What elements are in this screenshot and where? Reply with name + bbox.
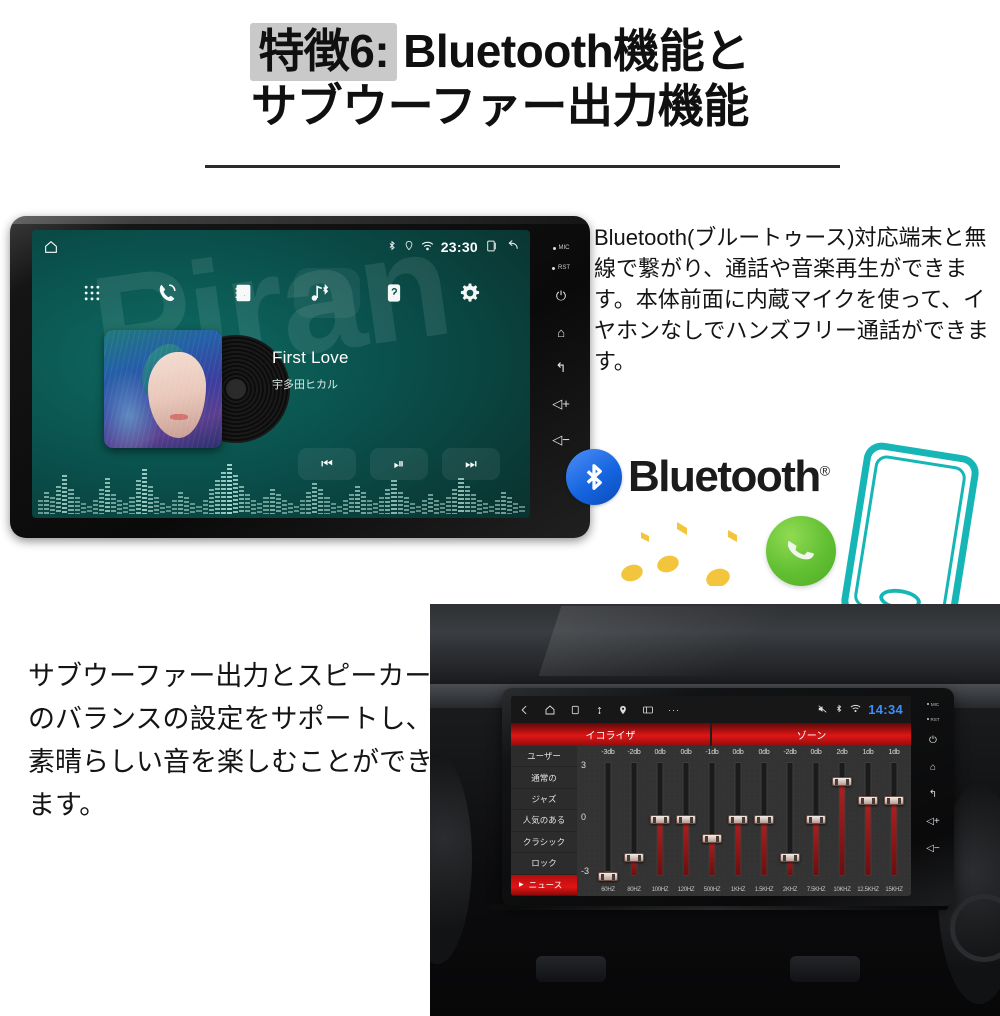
band-fill [762, 818, 767, 875]
band-fill [684, 818, 689, 875]
visualizer-bar [477, 500, 482, 514]
band-fill [866, 799, 871, 875]
band-track[interactable] [709, 762, 716, 876]
title-line-1-text: Bluetooth機能と [403, 25, 750, 77]
power-key[interactable]: ⏻ [929, 728, 937, 752]
visualizer-bar [343, 500, 348, 514]
y-axis-tick: 0 [581, 812, 586, 822]
band-value-label: -1db [705, 749, 718, 756]
equalizer-band[interactable]: -3db60HZ [595, 746, 621, 896]
band-thumb[interactable] [858, 796, 878, 805]
visualizer-bar [270, 489, 275, 514]
equalizer-body: ユーザー通常のジャズ人気のあるクラシックロックニュース 30-3 -3db60H… [511, 746, 911, 896]
head-unit-screen[interactable]: Piran [32, 230, 530, 518]
band-frequency-label: 80HZ [627, 887, 640, 893]
band-fill [658, 818, 663, 875]
visualizer-bar [257, 503, 262, 514]
band-frequency-label: 15KHZ [885, 887, 902, 893]
dash-upper-panel [430, 604, 1000, 690]
equalizer-device: ··· 14:34 イコライザゾーン [502, 688, 954, 906]
preset-item[interactable]: 人気のある [511, 810, 577, 831]
bluetooth-icon [387, 239, 397, 255]
visualizer-bar [312, 483, 317, 514]
visualizer-bar [209, 489, 214, 514]
preset-label: 人気のある [523, 814, 566, 826]
visualizer-bar [75, 497, 80, 514]
usb-icon[interactable] [595, 704, 604, 716]
wifi-icon [850, 704, 861, 715]
band-value-label: -3db [601, 749, 614, 756]
equalizer-graph[interactable]: 30-3 -3db60HZ-2db80HZ0db100HZ0db120HZ-1d… [577, 746, 911, 896]
band-thumb[interactable] [832, 777, 852, 786]
now-playing-info: First Love 宇多田ヒカル [272, 348, 349, 392]
visualizer-bar [56, 486, 61, 514]
band-value-label: 0db [810, 749, 821, 756]
track-title: First Love [272, 348, 349, 368]
visualizer-bar [87, 506, 92, 514]
visualizer-bar [111, 494, 116, 514]
bluetooth-icon [835, 703, 843, 716]
band-value-label: -2db [783, 749, 796, 756]
preset-item[interactable]: ジャズ [511, 789, 577, 810]
visualizer-bar [81, 503, 86, 514]
band-thumb[interactable] [598, 872, 618, 881]
visualizer-bar [178, 492, 183, 514]
bluetooth-description: Bluetooth(ブルートゥース)対応端末と無線で繋がり、通話や音楽再生ができ… [594, 222, 994, 377]
y-axis-tick: 3 [581, 760, 586, 770]
head-unit-device: Piran [10, 216, 590, 538]
bezel-highlight [10, 216, 590, 224]
home-key[interactable]: ⌂ [557, 316, 565, 348]
band-thumb[interactable] [780, 853, 800, 862]
equalizer-band[interactable]: 2db10KHZ [829, 746, 855, 896]
visualizer-bar [452, 489, 457, 514]
visualizer-bar [245, 494, 250, 514]
preset-item[interactable]: ニュース [511, 875, 577, 896]
visualizer-bar [50, 497, 55, 514]
visualizer-bar [513, 503, 518, 514]
visualizer-bar [391, 480, 396, 514]
visualizer-bar [471, 494, 476, 514]
visualizer-bar [136, 480, 141, 514]
equalizer-band[interactable]: 0db120HZ [673, 746, 699, 896]
home-icon[interactable] [544, 704, 556, 716]
equalizer-tab[interactable]: ゾーン [712, 723, 911, 746]
y-axis: 30-3 [579, 746, 593, 896]
more-icon[interactable]: ··· [668, 705, 680, 715]
visualizer-bar [446, 497, 451, 514]
band-frequency-label: 120HZ [678, 887, 695, 893]
visualizer-bar [458, 478, 463, 514]
equalizer-tabs: イコライザゾーン [511, 723, 911, 746]
visualizer-bar [251, 500, 256, 514]
home-key[interactable]: ⌂ [930, 755, 936, 779]
visualizer-bar [337, 506, 342, 514]
equalizer-side-keys: MICRST⏻⌂↰◁+◁− [916, 698, 950, 894]
band-fill [814, 818, 819, 875]
equalizer-band[interactable]: 1db12.5KHZ [855, 746, 881, 896]
visualizer-bar [404, 497, 409, 514]
visualizer-bar [331, 503, 336, 514]
visualizer-bar [300, 500, 305, 514]
power-key[interactable]: ⏻ [556, 280, 566, 312]
equalizer-tab[interactable]: イコライザ [511, 723, 710, 746]
band-sliders: -3db60HZ-2db80HZ0db100HZ0db120HZ-1db500H… [595, 746, 907, 896]
phone-call-icon [766, 516, 836, 586]
visualizer-bar [239, 486, 244, 514]
visualizer-bar [361, 492, 366, 514]
visualizer-bar [422, 500, 427, 514]
album-art [104, 330, 222, 448]
band-track[interactable] [865, 762, 872, 876]
preset-label: ジャズ [531, 793, 556, 805]
android-nav-bar: ··· 14:34 [511, 696, 911, 723]
visualizer-bar [263, 497, 268, 514]
band-fill [840, 780, 845, 875]
equalizer-band[interactable]: 0db1KHZ [725, 746, 751, 896]
visualizer-bar [416, 506, 421, 514]
preset-label: クラシック [523, 836, 565, 848]
band-thumb[interactable] [806, 815, 826, 824]
visualizer-bar [129, 497, 134, 514]
band-frequency-label: 2KHZ [783, 887, 797, 893]
visualizer-bar [495, 500, 500, 514]
equalizer-band[interactable]: 0db1.5KHZ [751, 746, 777, 896]
visualizer-bar [44, 492, 49, 514]
bluetooth-wordmark: Bluetooth® [628, 452, 829, 502]
visualizer-bar [203, 500, 208, 514]
reset-key[interactable]: RST [552, 260, 570, 276]
status-bar: 23:30 [32, 230, 530, 264]
visualizer-bar [68, 489, 73, 514]
bluetooth-icon [566, 449, 622, 505]
visualizer-bar [306, 492, 311, 514]
visualizer-bar [367, 500, 372, 514]
visualizer-bar [355, 486, 360, 514]
visualizer-bar [318, 489, 323, 514]
band-value-label: 0db [680, 749, 691, 756]
phone-dial-icon[interactable] [154, 280, 180, 306]
status-clock: 23:30 [441, 239, 478, 255]
equalizer-band[interactable]: -2db2KHZ [777, 746, 803, 896]
visualizer-bar [142, 469, 147, 514]
visualizer-bar [154, 497, 159, 514]
band-fill [892, 799, 897, 875]
preset-label: ロック [531, 857, 557, 869]
band-frequency-label: 1.5KHZ [755, 887, 774, 893]
back-icon[interactable] [519, 704, 530, 716]
visualizer-bar [465, 486, 470, 514]
location-icon[interactable] [618, 704, 628, 716]
band-frequency-label: 1KHZ [731, 887, 745, 893]
app-shortcut-row [32, 272, 530, 314]
visualizer-bar [190, 503, 195, 514]
registered-mark: ® [820, 462, 829, 478]
visualizer-bar [379, 497, 384, 514]
visualizer-bar [172, 500, 177, 514]
band-track[interactable] [605, 762, 612, 876]
visualizer-bar [215, 480, 220, 514]
audio-visualizer [32, 460, 530, 518]
visualizer-bar [349, 494, 354, 514]
visualizer-bar [507, 497, 512, 514]
visualizer-bar [398, 492, 403, 514]
visualizer-bar [489, 506, 494, 514]
band-thumb[interactable] [676, 815, 696, 824]
status-icons: 14:34 [817, 702, 903, 717]
band-fill [736, 818, 741, 875]
visualizer-bar [373, 503, 378, 514]
band-value-label: -2db [627, 749, 640, 756]
visualizer-bar [99, 489, 104, 514]
track-artist: 宇多田ヒカル [272, 376, 349, 392]
visualizer-bar [276, 494, 281, 514]
volume-down-key[interactable]: ◁− [926, 836, 940, 860]
volume-up-key[interactable]: ◁+ [926, 809, 940, 833]
band-value-label: 2db [836, 749, 847, 756]
band-thumb[interactable] [650, 815, 670, 824]
preset-label: ニュース [529, 879, 563, 891]
app-drawer-icon[interactable] [79, 280, 105, 306]
visualizer-bar [428, 494, 433, 514]
visualizer-bar [227, 464, 232, 514]
band-thumb[interactable] [624, 853, 644, 862]
mic-key[interactable]: MIC [553, 240, 570, 256]
band-value-label: 0db [732, 749, 743, 756]
band-value-label: 1db [888, 749, 899, 756]
visualizer-bar [483, 503, 488, 514]
equalizer-screen[interactable]: ··· 14:34 イコライザゾーン [511, 696, 911, 896]
visualizer-bar [519, 506, 524, 514]
page-title: 特徴6:Bluetooth機能と サブウーファー出力機能 [0, 24, 1000, 134]
bluetooth-brand-row: Bluetooth® [566, 446, 866, 508]
band-frequency-label: 60HZ [601, 887, 614, 893]
preset-item[interactable]: クラシック [511, 832, 577, 853]
band-frequency-label: 12.5KHZ [857, 887, 879, 893]
split-screen-icon[interactable] [642, 704, 654, 716]
recents-icon[interactable] [485, 239, 498, 256]
title-divider [205, 165, 840, 168]
visualizer-bar [62, 475, 67, 514]
band-track[interactable] [891, 762, 898, 876]
equalizer-band[interactable]: 0db100HZ [647, 746, 673, 896]
visualizer-bar [282, 500, 287, 514]
back-key[interactable]: ↰ [929, 782, 937, 806]
subwoofer-description: サブウーファー出力とスピーカーのバランスの設定をサポートし、素晴らしい音を楽しむ… [28, 655, 438, 827]
dash-button-left [536, 956, 606, 982]
y-axis-tick: -3 [581, 866, 589, 876]
dash-button-right [790, 956, 860, 982]
band-thumb[interactable] [702, 834, 722, 843]
visualizer-bar [105, 478, 110, 514]
band-thumb[interactable] [728, 815, 748, 824]
preset-item[interactable]: ユーザー [511, 746, 577, 767]
visualizer-bar [385, 489, 390, 514]
band-thumb[interactable] [884, 796, 904, 805]
preset-list: ユーザー通常のジャズ人気のあるクラシックロックニュース [511, 746, 577, 896]
visualizer-bar [288, 503, 293, 514]
visualizer-bar [440, 503, 445, 514]
mic-key[interactable]: MIC [927, 698, 939, 710]
wifi-icon [421, 241, 434, 254]
visualizer-bar [221, 472, 226, 514]
volume-up-key[interactable]: ◁+ [552, 388, 570, 420]
band-value-label: 0db [654, 749, 665, 756]
reset-key[interactable]: RST [927, 713, 940, 725]
band-frequency-label: 500HZ [704, 887, 721, 893]
back-key[interactable]: ↰ [556, 352, 567, 384]
page-root: 特徴6:Bluetooth機能と サブウーファー出力機能 Piran [0, 0, 1000, 1016]
equalizer-band[interactable]: -1db500HZ [699, 746, 725, 896]
visualizer-bar [166, 506, 171, 514]
visualizer-bar [294, 506, 299, 514]
home-icon[interactable] [42, 239, 60, 255]
visualizer-bar [434, 500, 439, 514]
bluetooth-music-icon[interactable] [306, 280, 332, 306]
mute-icon [817, 704, 828, 716]
band-value-label: 1db [862, 749, 873, 756]
visualizer-bar [324, 497, 329, 514]
band-frequency-label: 10KHZ [833, 887, 850, 893]
preset-label: 通常の [531, 772, 557, 784]
visualizer-bar [184, 497, 189, 514]
status-icons: 23:30 [387, 239, 520, 256]
phone-link-icon[interactable] [381, 280, 407, 306]
visualizer-bar [38, 500, 43, 514]
status-clock: 14:34 [868, 702, 903, 717]
band-frequency-label: 100HZ [652, 887, 669, 893]
visualizer-bar [123, 503, 128, 514]
equalizer-band[interactable]: 1db15KHZ [881, 746, 907, 896]
title-line-2: サブウーファー出力機能 [0, 78, 1000, 134]
visualizer-bar [148, 486, 153, 514]
location-icon [404, 239, 414, 255]
contacts-icon[interactable] [230, 280, 256, 306]
equalizer-band[interactable]: 0db7.5KHZ [803, 746, 829, 896]
visualizer-bar [233, 475, 238, 514]
preset-item[interactable]: ロック [511, 853, 577, 874]
band-thumb[interactable] [754, 815, 774, 824]
band-value-label: 0db [758, 749, 769, 756]
visualizer-bar [160, 503, 165, 514]
visualizer-bar [117, 500, 122, 514]
preset-label: ユーザー [527, 750, 561, 762]
car-dashboard-photo: ··· 14:34 イコライザゾーン [430, 604, 1000, 1016]
visualizer-bar [410, 503, 415, 514]
equalizer-band[interactable]: -2db80HZ [621, 746, 647, 896]
preset-item[interactable]: 通常の [511, 767, 577, 788]
title-line-1: 特徴6:Bluetooth機能と [0, 24, 1000, 78]
visualizer-bar [196, 506, 201, 514]
recents-icon[interactable] [570, 704, 581, 716]
settings-gear-icon[interactable] [457, 280, 483, 306]
band-frequency-label: 7.5KHZ [807, 887, 826, 893]
feature-number-badge: 特徴6: [250, 23, 397, 81]
visualizer-bar [501, 492, 506, 514]
visualizer-bar [93, 500, 98, 514]
back-icon[interactable] [505, 239, 520, 256]
